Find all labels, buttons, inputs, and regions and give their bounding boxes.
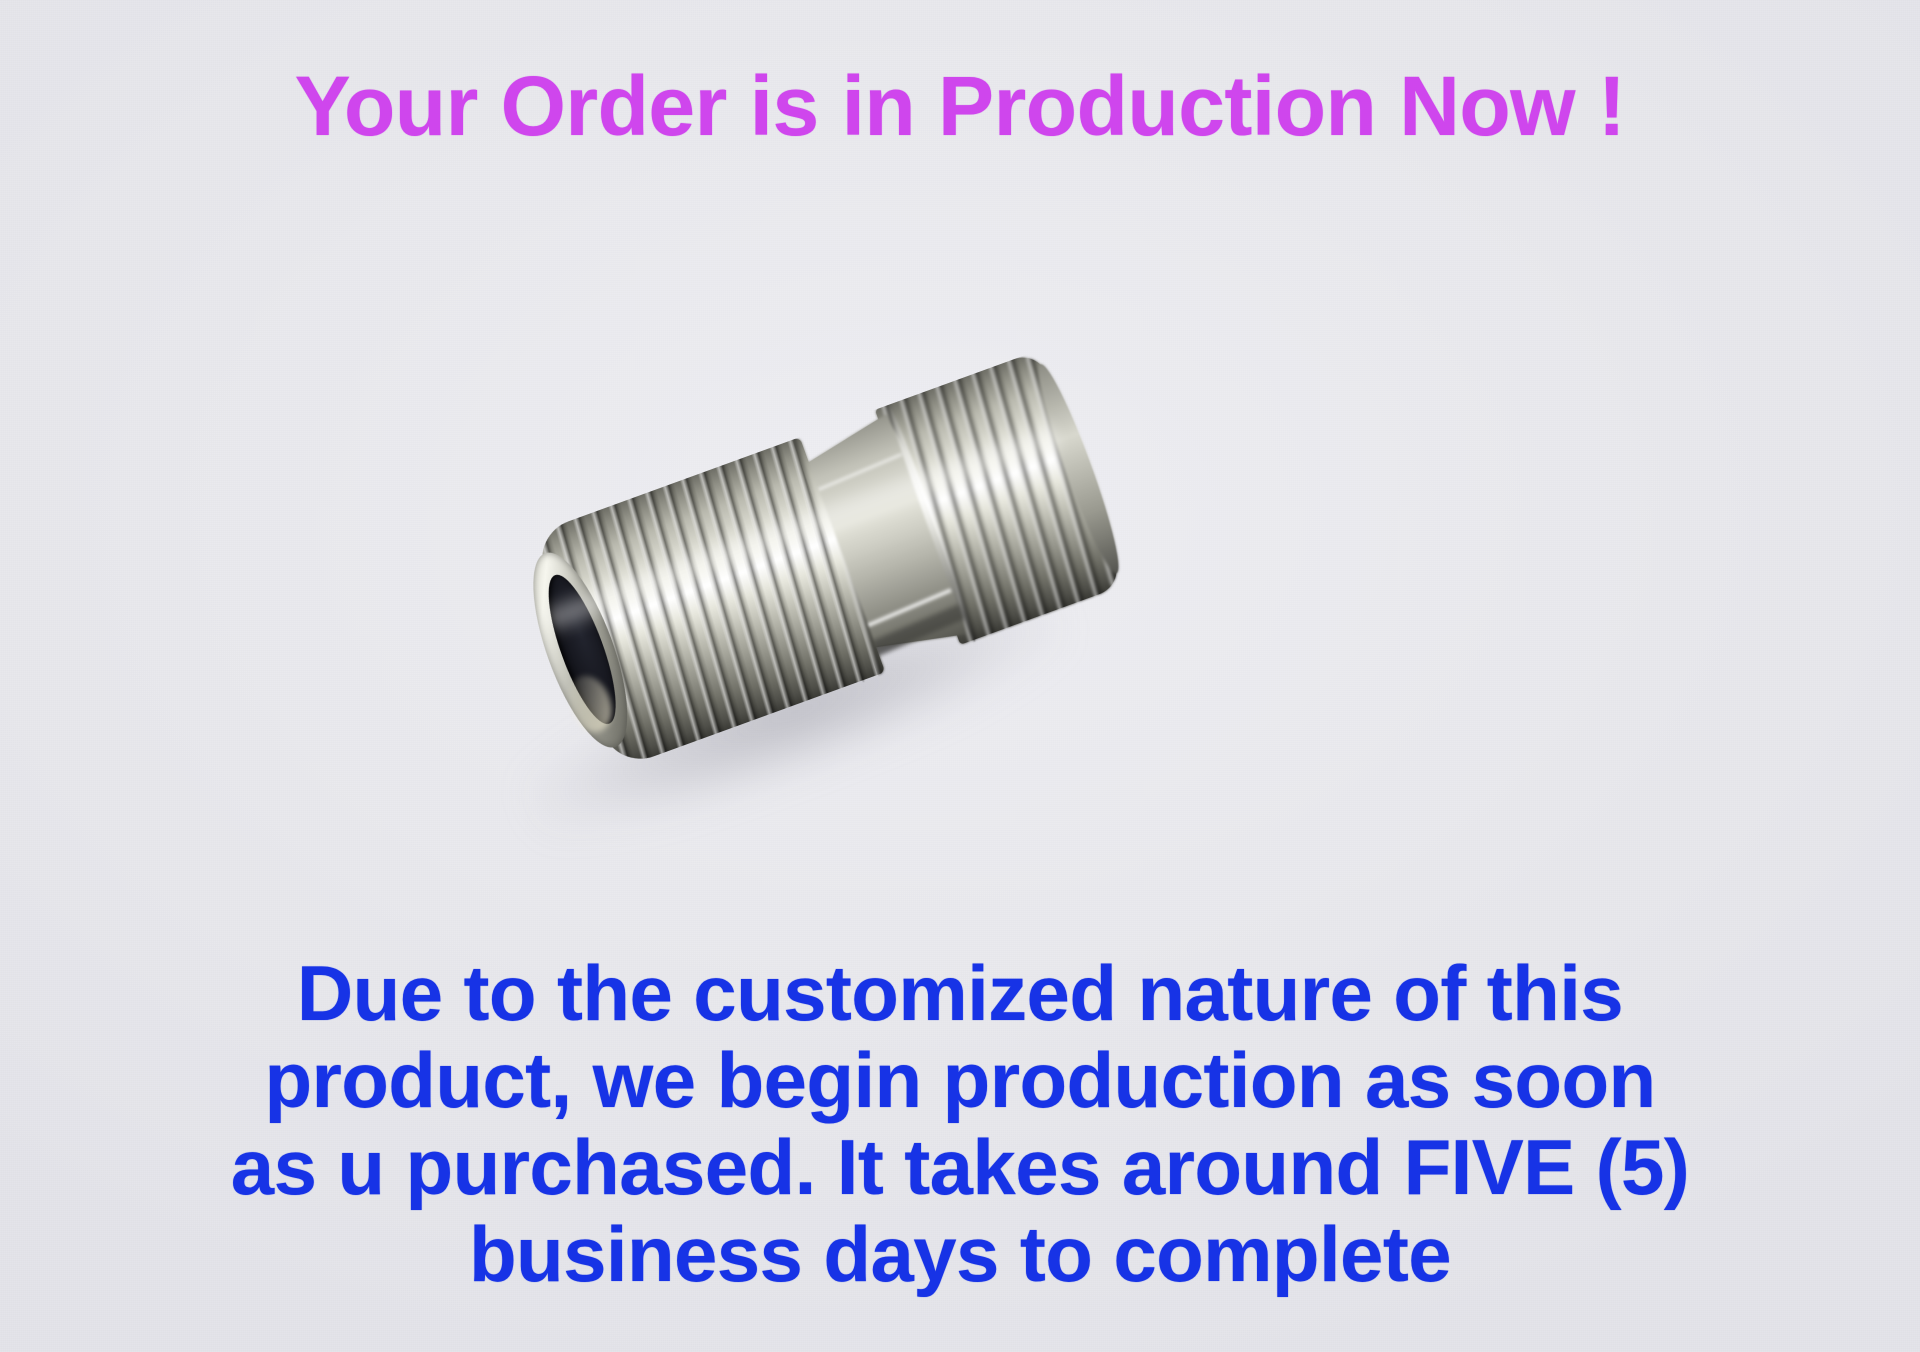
headline-text: Your Order is in Production Now ! [0,64,1920,148]
body-line-1: Due to the customized nature of this [0,950,1920,1037]
body-text: Due to the customized nature of this pro… [0,950,1920,1298]
body-line-4: business days to complete [0,1211,1920,1298]
pipe-nipple-photo [497,352,1107,787]
body-line-3: as u purchased. It takes around FIVE (5) [0,1124,1920,1211]
body-line-2: product, we begin production as soon [0,1037,1920,1124]
notice-image: Your Order is in Production Now ! [0,0,1920,1352]
